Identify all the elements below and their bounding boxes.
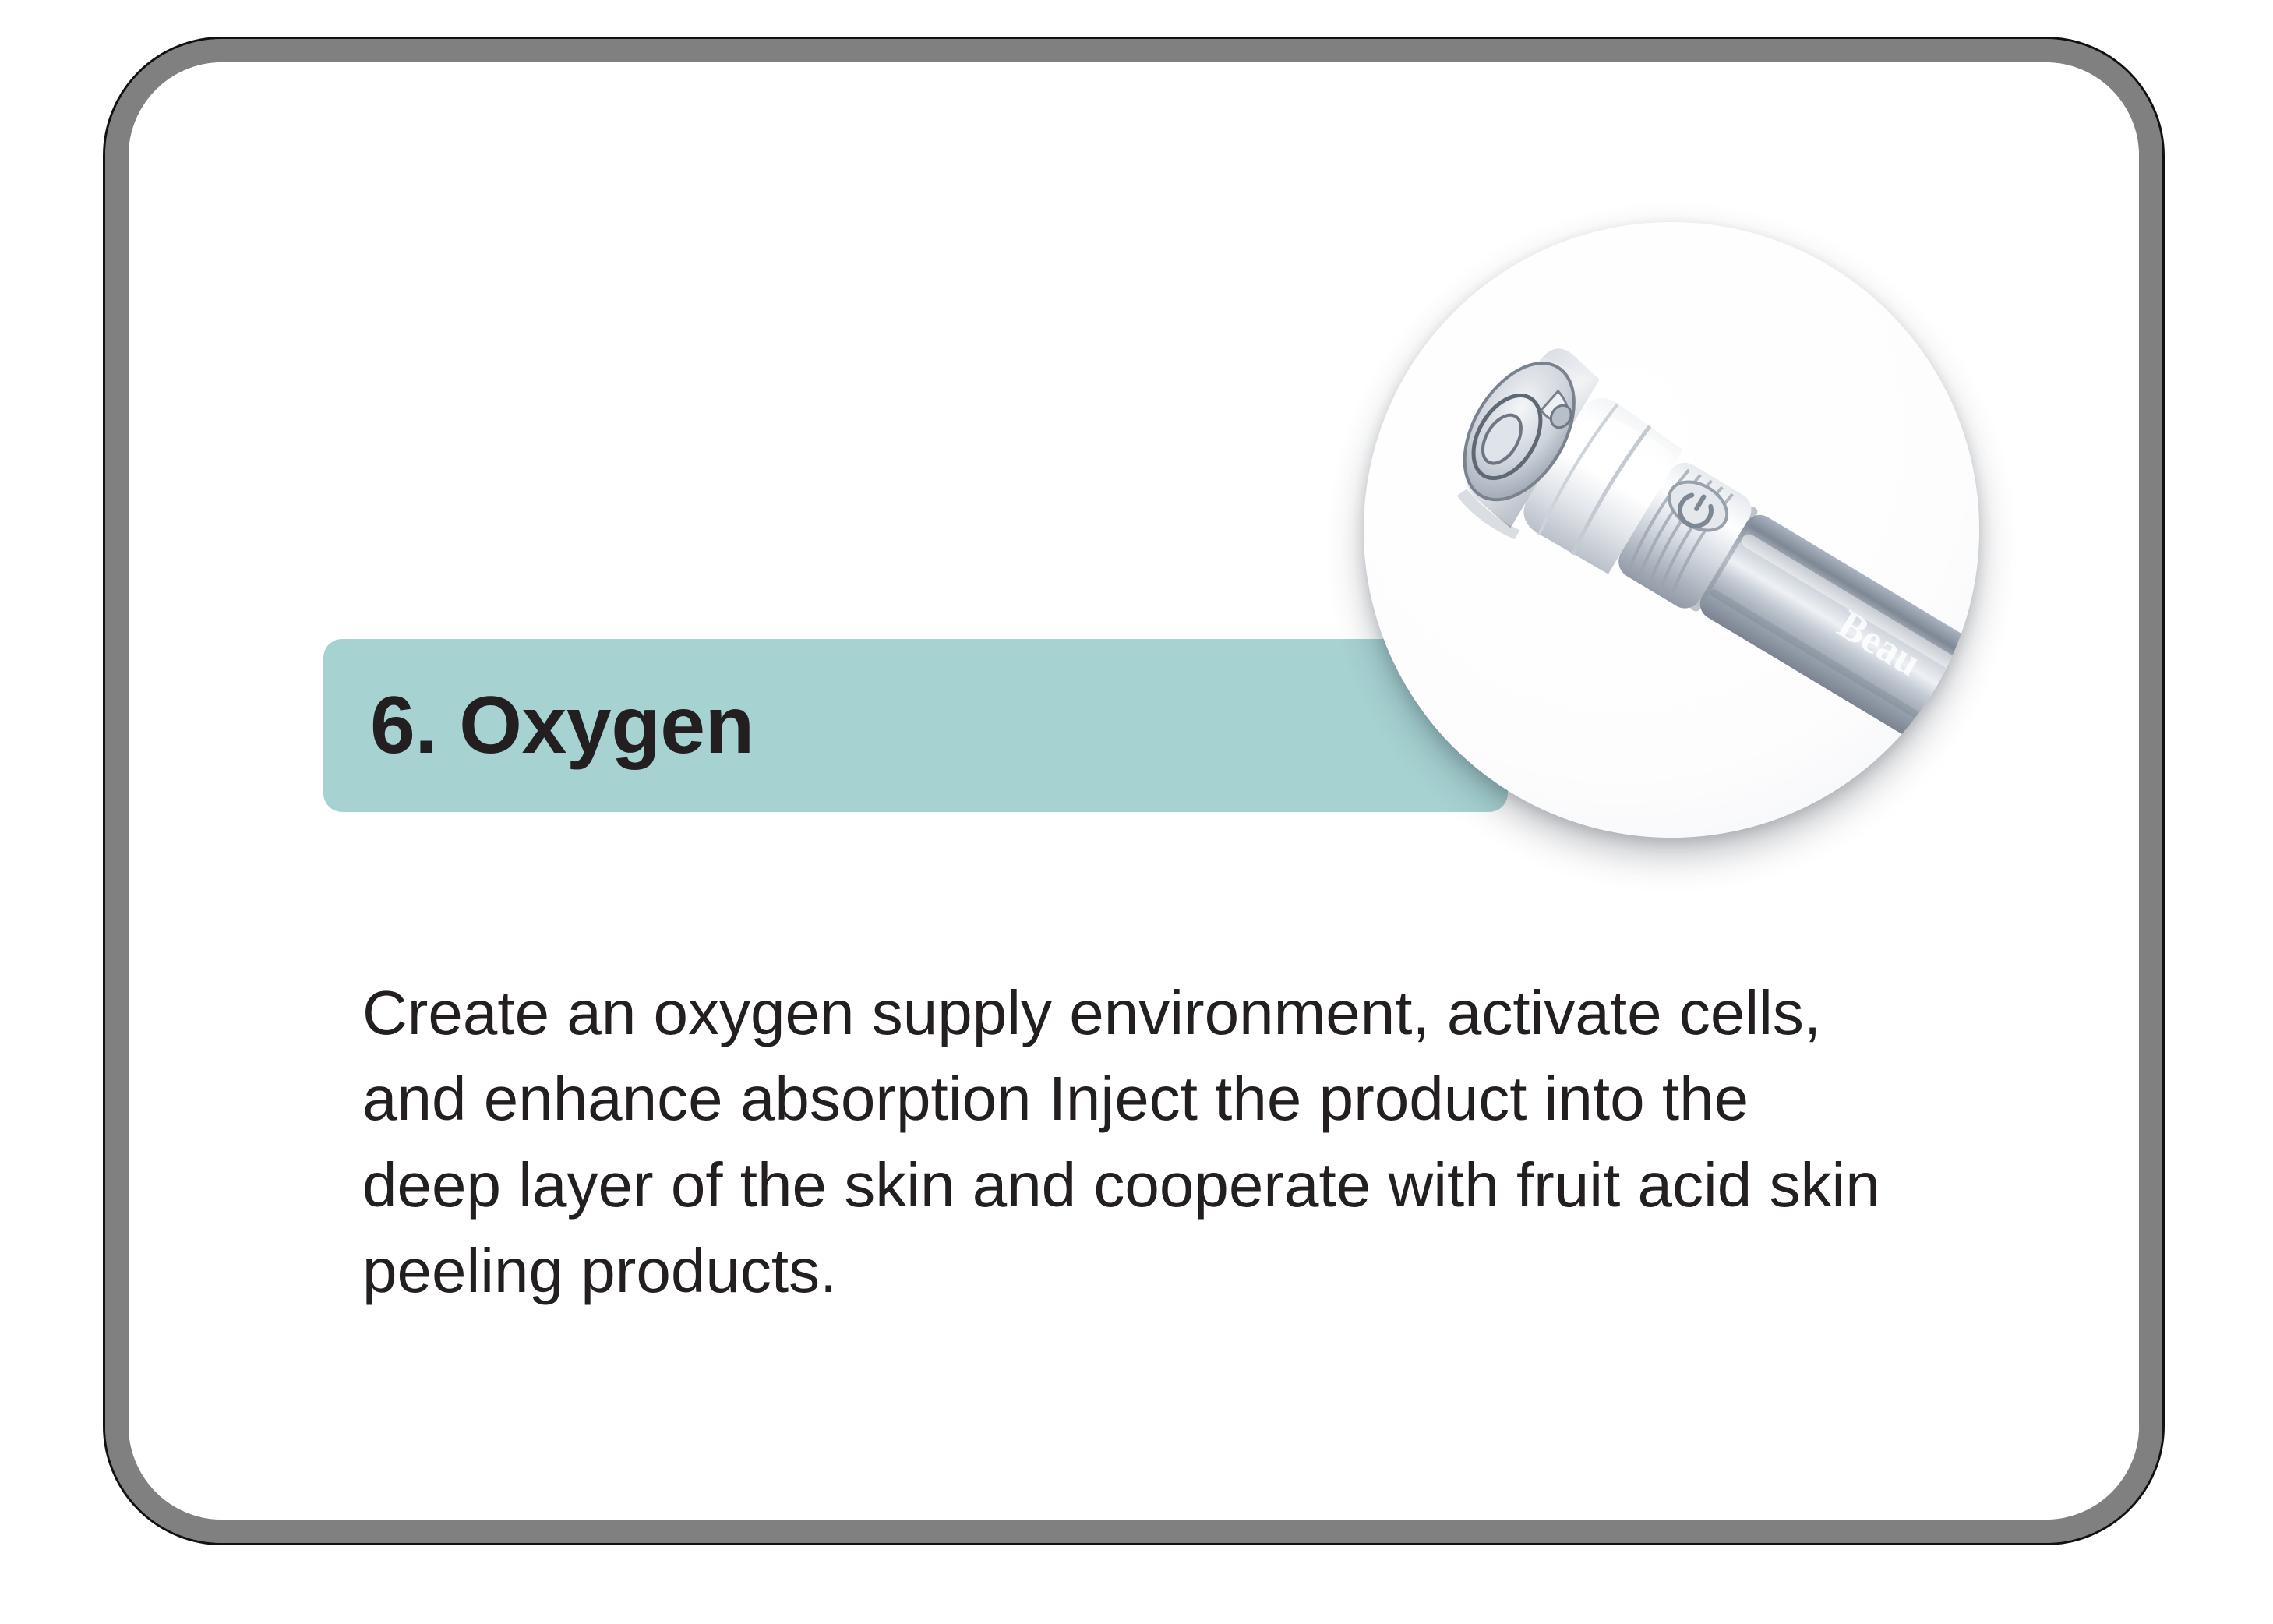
- feature-card: 6. Oxygen: [105, 39, 2162, 1543]
- feature-description: Create an oxygen supply environment, act…: [362, 970, 1890, 1315]
- page-title: 6. Oxygen: [370, 639, 1461, 812]
- handpiece-illustration: Beau: [1364, 222, 1979, 838]
- slide-canvas: 6. Oxygen: [0, 0, 2273, 1624]
- card-inner-surface: 6. Oxygen: [129, 62, 2139, 1520]
- product-image-circle: Beau: [1364, 222, 1979, 838]
